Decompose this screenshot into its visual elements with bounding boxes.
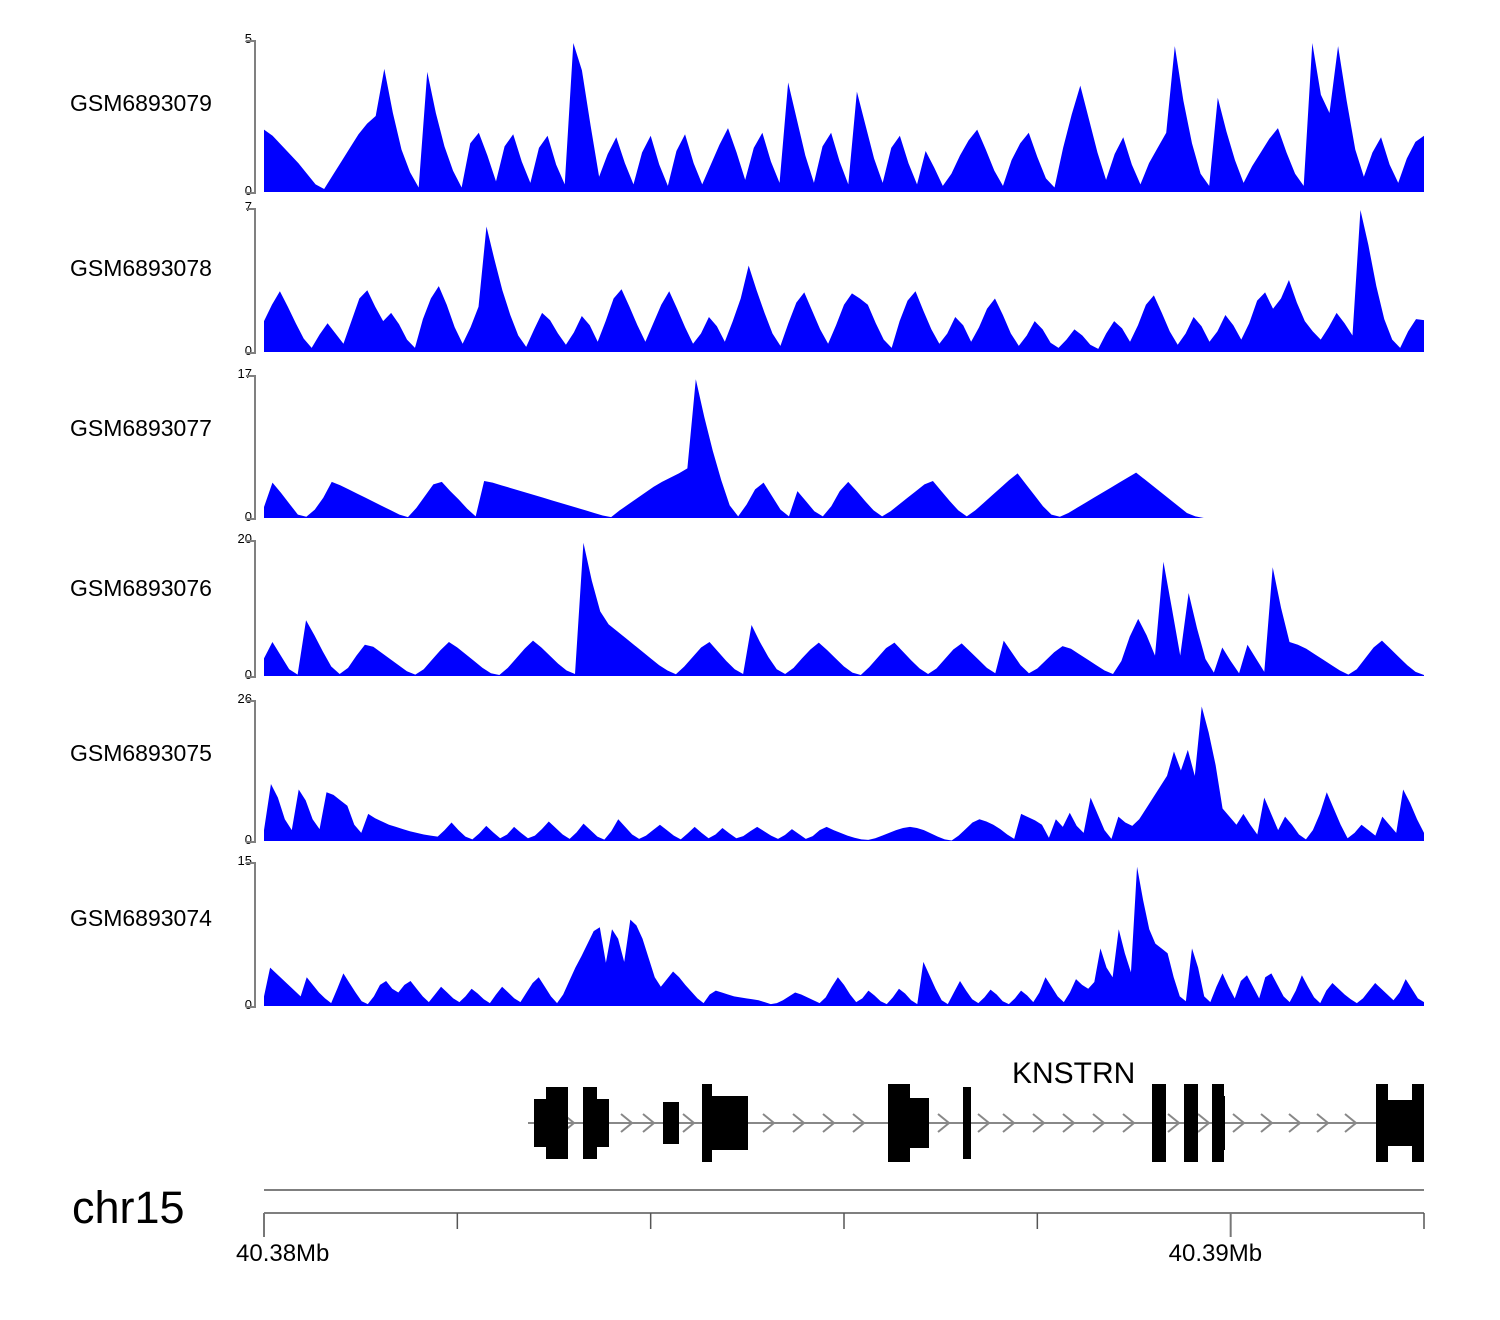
gene-model-svg [0, 1055, 1500, 1185]
gene-annotation-track[interactable]: KNSTRN [0, 1055, 1500, 1185]
genome-axis[interactable]: 40.38Mb 40.39Mb [0, 1185, 1500, 1295]
y-axis-max-GSM6893078: 7 [212, 199, 252, 214]
exon-block [1215, 1096, 1225, 1150]
y-axis-spine-GSM6893076 [254, 540, 256, 676]
coverage-area-GSM6893074 [264, 862, 1426, 1008]
exon-block [1184, 1084, 1198, 1162]
y-axis-tick-max-GSM6893074 [246, 862, 256, 864]
exon-block [899, 1098, 929, 1148]
y-axis-spine-GSM6893078 [254, 208, 256, 352]
y-axis-min-GSM6893074: 0 [212, 997, 252, 1012]
y-axis-tick-min-GSM6893074 [246, 1006, 256, 1008]
track-label-GSM6893075: GSM6893075 [70, 740, 260, 767]
coverage-area-GSM6893076 [264, 540, 1426, 678]
y-axis-tick-min-GSM6893076 [246, 676, 256, 678]
exon-block [963, 1087, 971, 1159]
genome-browser-view: GSM689307950GSM689307870GSM6893077170GSM… [0, 0, 1500, 1320]
track-label-GSM6893078: GSM6893078 [70, 255, 260, 282]
track-label-GSM6893077: GSM6893077 [70, 415, 260, 442]
y-axis-tick-min-GSM6893075 [246, 841, 256, 843]
exon-block [663, 1102, 679, 1144]
axis-tick-label-start: 40.38Mb [236, 1240, 329, 1268]
y-axis-min-GSM6893077: 0 [212, 509, 252, 524]
coverage-area-GSM6893077 [264, 375, 1426, 520]
y-axis-spine-GSM6893075 [254, 700, 256, 841]
track-label-GSM6893076: GSM6893076 [70, 575, 260, 602]
y-axis-max-GSM6893079: 5 [212, 31, 252, 46]
exon-block [708, 1096, 748, 1150]
y-axis-tick-min-GSM6893079 [246, 192, 256, 194]
y-axis-spine-GSM6893074 [254, 862, 256, 1006]
y-axis-tick-max-GSM6893077 [246, 375, 256, 377]
y-axis-min-GSM6893076: 0 [212, 667, 252, 682]
coverage-area-GSM6893075 [264, 700, 1426, 843]
y-axis-max-GSM6893074: 15 [212, 853, 252, 868]
track-label-GSM6893079: GSM6893079 [70, 90, 260, 117]
y-axis-min-GSM6893079: 0 [212, 183, 252, 198]
y-axis-tick-max-GSM6893075 [246, 700, 256, 702]
y-axis-tick-max-GSM6893078 [246, 208, 256, 210]
gene-name-label: KNSTRN [1012, 1057, 1135, 1091]
y-axis-min-GSM6893078: 0 [212, 343, 252, 358]
exon-block [589, 1099, 609, 1147]
coverage-area-GSM6893078 [264, 208, 1426, 354]
genome-axis-svg [0, 1185, 1500, 1245]
exon-block [1412, 1084, 1424, 1162]
y-axis-spine-GSM6893079 [254, 40, 256, 192]
exon-block [1152, 1084, 1166, 1162]
track-label-GSM6893074: GSM6893074 [70, 905, 260, 932]
axis-tick-label-end: 40.39Mb [1169, 1240, 1262, 1268]
y-axis-tick-max-GSM6893079 [246, 40, 256, 42]
y-axis-max-GSM6893076: 20 [212, 531, 252, 546]
y-axis-tick-min-GSM6893077 [246, 518, 256, 520]
coverage-area-GSM6893079 [264, 40, 1426, 194]
y-axis-tick-max-GSM6893076 [246, 540, 256, 542]
y-axis-tick-min-GSM6893078 [246, 352, 256, 354]
y-axis-max-GSM6893075: 26 [212, 691, 252, 706]
y-axis-spine-GSM6893077 [254, 375, 256, 518]
y-axis-max-GSM6893077: 17 [212, 366, 252, 381]
y-axis-min-GSM6893075: 0 [212, 832, 252, 847]
exon-block [546, 1087, 568, 1159]
